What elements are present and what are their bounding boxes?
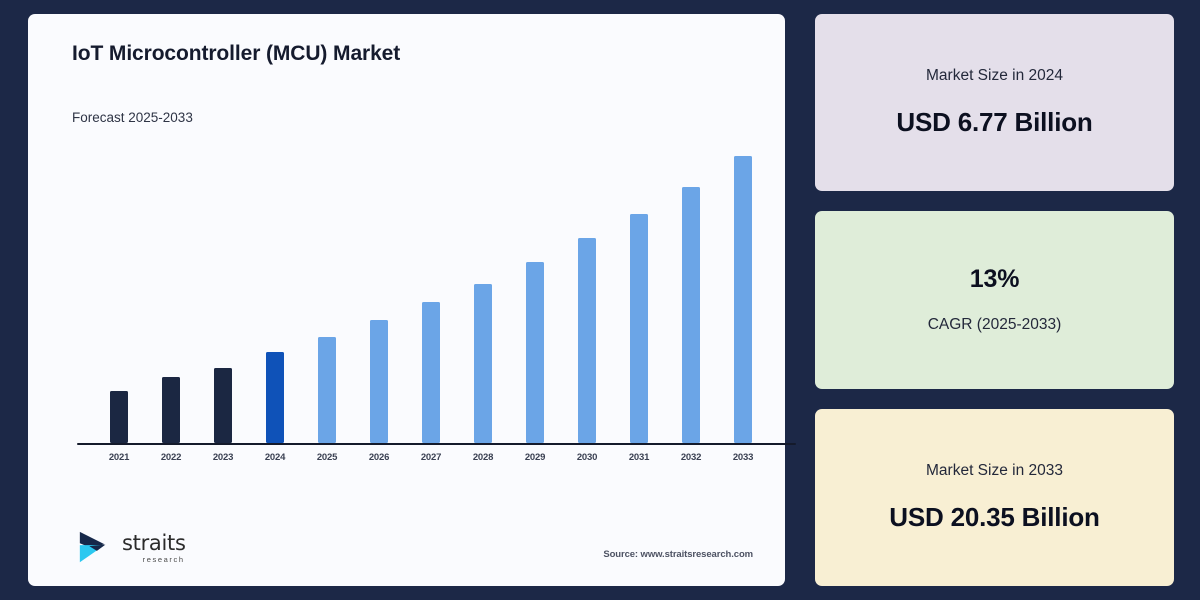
bar-2025 [318, 337, 336, 443]
stat-card-value: 13% [970, 265, 1019, 294]
stat-card-1: Market Size in 2024USD 6.77 Billion [815, 14, 1174, 191]
stat-card-value: USD 20.35 Billion [889, 502, 1099, 533]
bar-2033 [734, 156, 752, 443]
stat-card-2: 13%CAGR (2025-2033) [815, 211, 1174, 388]
stat-card-label: CAGR (2025-2033) [928, 316, 1062, 334]
stat-card-column: Market Size in 2024USD 6.77 Billion13%CA… [815, 14, 1174, 586]
bar-2024 [266, 352, 284, 443]
straits-arrow-logo-icon [76, 530, 114, 566]
bar-2028 [474, 284, 492, 443]
bar-2027 [422, 302, 440, 443]
source-attribution: Source: www.straitsresearch.com [603, 549, 753, 560]
stat-card-3: Market Size in 2033USD 20.35 Billion [815, 409, 1174, 586]
logo-word: straits [122, 533, 186, 554]
logo-wordmark: straits research [122, 533, 186, 564]
bar-2030 [578, 238, 596, 443]
bar-2029 [526, 262, 544, 443]
bar-2021 [110, 391, 128, 443]
bar-2032 [682, 187, 700, 443]
bar-2026 [370, 320, 388, 443]
x-axis-line [77, 443, 796, 445]
straits-research-logo: straits research [76, 530, 186, 566]
logo-subword: research [143, 556, 185, 564]
stat-card-label: Market Size in 2024 [926, 67, 1063, 85]
stat-card-label: Market Size in 2033 [926, 462, 1063, 480]
chart-footer: straits research Source: www.straitsrese… [52, 530, 761, 574]
bar-series [110, 151, 761, 443]
infographic-root: IoT Microcontroller (MCU) Market Forecas… [0, 0, 1200, 600]
chart-card: IoT Microcontroller (MCU) Market Forecas… [28, 14, 785, 586]
bar-chart-plot-area [77, 145, 761, 445]
stat-card-value: USD 6.77 Billion [896, 107, 1092, 138]
chart-subtitle: Forecast 2025-2033 [72, 110, 761, 125]
bar-2031 [630, 214, 648, 443]
bar-2022 [162, 377, 180, 443]
bar-2023 [214, 368, 232, 443]
page-title: IoT Microcontroller (MCU) Market [72, 42, 761, 66]
